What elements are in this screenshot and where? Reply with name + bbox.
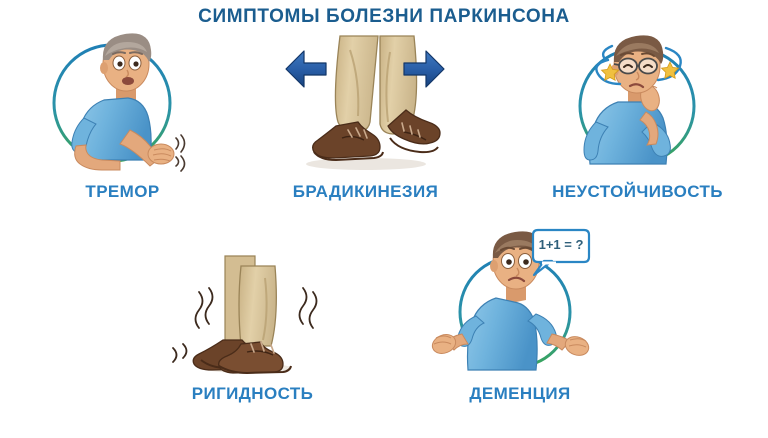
infographic-canvas: СИМПТОМЫ БОЛЕЗНИ ПАРКИНСОНА bbox=[0, 0, 768, 438]
tremor-illustration bbox=[30, 26, 215, 176]
arrow-left-icon bbox=[286, 51, 326, 87]
shoe-left-icon bbox=[313, 122, 380, 158]
speech-bubble-text: 1+1 = ? bbox=[539, 237, 584, 252]
bradykinesia-illustration bbox=[258, 26, 473, 176]
symptom-panel-dementia: 1+1 = ? ДЕМЕНЦИЯ bbox=[420, 222, 620, 420]
dementia-illustration: 1+1 = ? bbox=[420, 222, 620, 382]
hand-icon bbox=[148, 144, 174, 164]
symptom-panel-tremor: ТРЕМОР bbox=[30, 26, 215, 216]
symptom-label-tremor: ТРЕМОР bbox=[30, 182, 215, 202]
symptom-label-dementia: ДЕМЕНЦИЯ bbox=[420, 384, 620, 404]
symptom-panel-rigidity: РИГИДНОСТЬ bbox=[155, 248, 350, 420]
legs-icon bbox=[193, 256, 291, 373]
symptom-label-rigidity: РИГИДНОСТЬ bbox=[155, 384, 350, 404]
symptom-panel-bradykinesia: БРАДИКИНЕЗИЯ bbox=[258, 26, 473, 216]
symptom-label-instability: НЕУСТОЙЧИВОСТЬ bbox=[520, 182, 755, 202]
rigidity-illustration bbox=[155, 248, 350, 380]
person-icon bbox=[584, 35, 670, 164]
instability-illustration bbox=[520, 22, 755, 177]
shadow bbox=[306, 158, 426, 170]
legs-icon bbox=[313, 36, 440, 160]
person-icon bbox=[72, 33, 174, 170]
symptom-label-bradykinesia: БРАДИКИНЕЗИЯ bbox=[258, 182, 473, 202]
tremor-lines-icon bbox=[176, 135, 185, 171]
symptom-panel-instability: НЕУСТОЙЧИВОСТЬ bbox=[520, 22, 755, 216]
speech-bubble-icon: 1+1 = ? bbox=[533, 230, 589, 275]
